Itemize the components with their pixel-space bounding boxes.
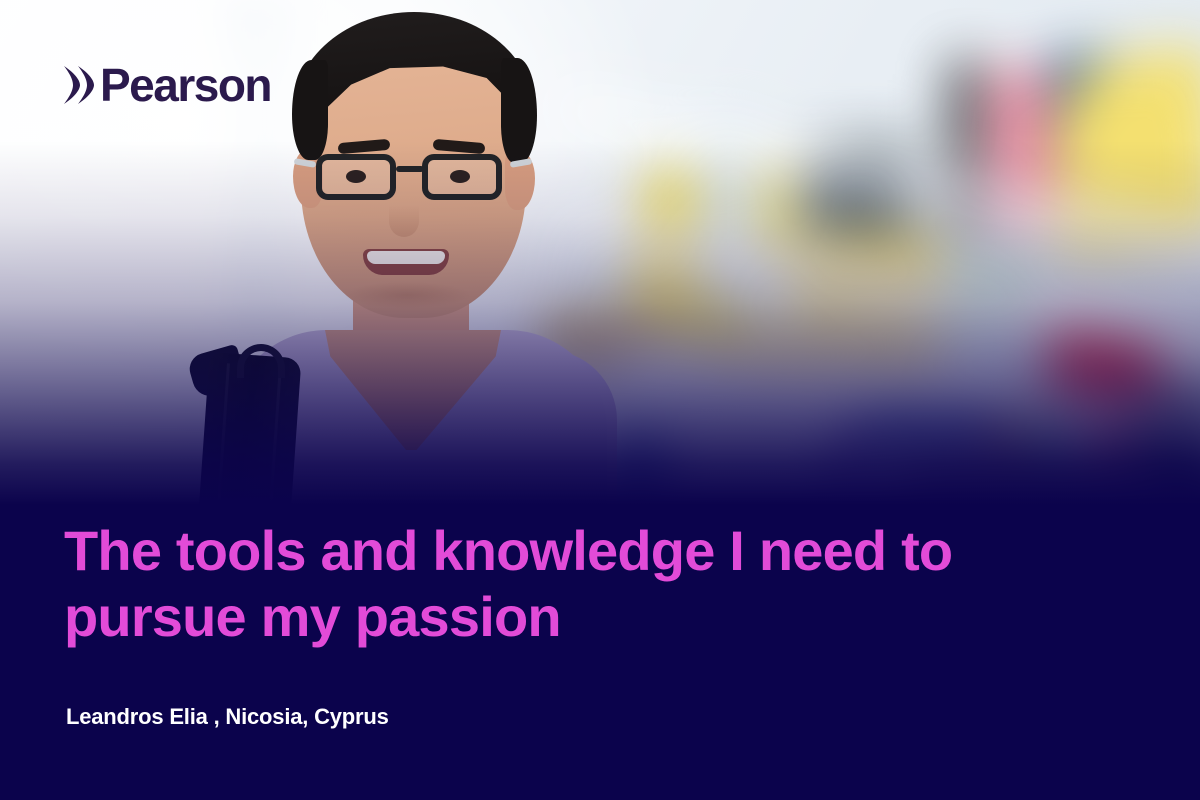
pearson-chevron-mark-icon	[62, 63, 96, 107]
quote-headline: The tools and knowledge I need to pursue…	[64, 518, 1024, 650]
smiling-mouth	[363, 249, 449, 275]
hair-side-left	[292, 60, 328, 160]
eye-right	[450, 170, 470, 183]
hair-side-right	[501, 58, 537, 163]
testimonial-banner: Pearson The tools and knowledge I need t…	[0, 0, 1200, 800]
pearson-wordmark: Pearson	[100, 62, 271, 108]
quote-attribution: Leandros Elia , Nicosia, Cyprus	[66, 704, 389, 730]
chin-shadow	[345, 282, 469, 308]
nose	[389, 205, 419, 237]
glasses-bridge	[396, 166, 424, 172]
pearson-logo[interactable]: Pearson	[62, 62, 271, 108]
eyeglasses-icon	[314, 150, 514, 206]
eye-left	[346, 170, 366, 183]
teeth	[367, 251, 445, 264]
